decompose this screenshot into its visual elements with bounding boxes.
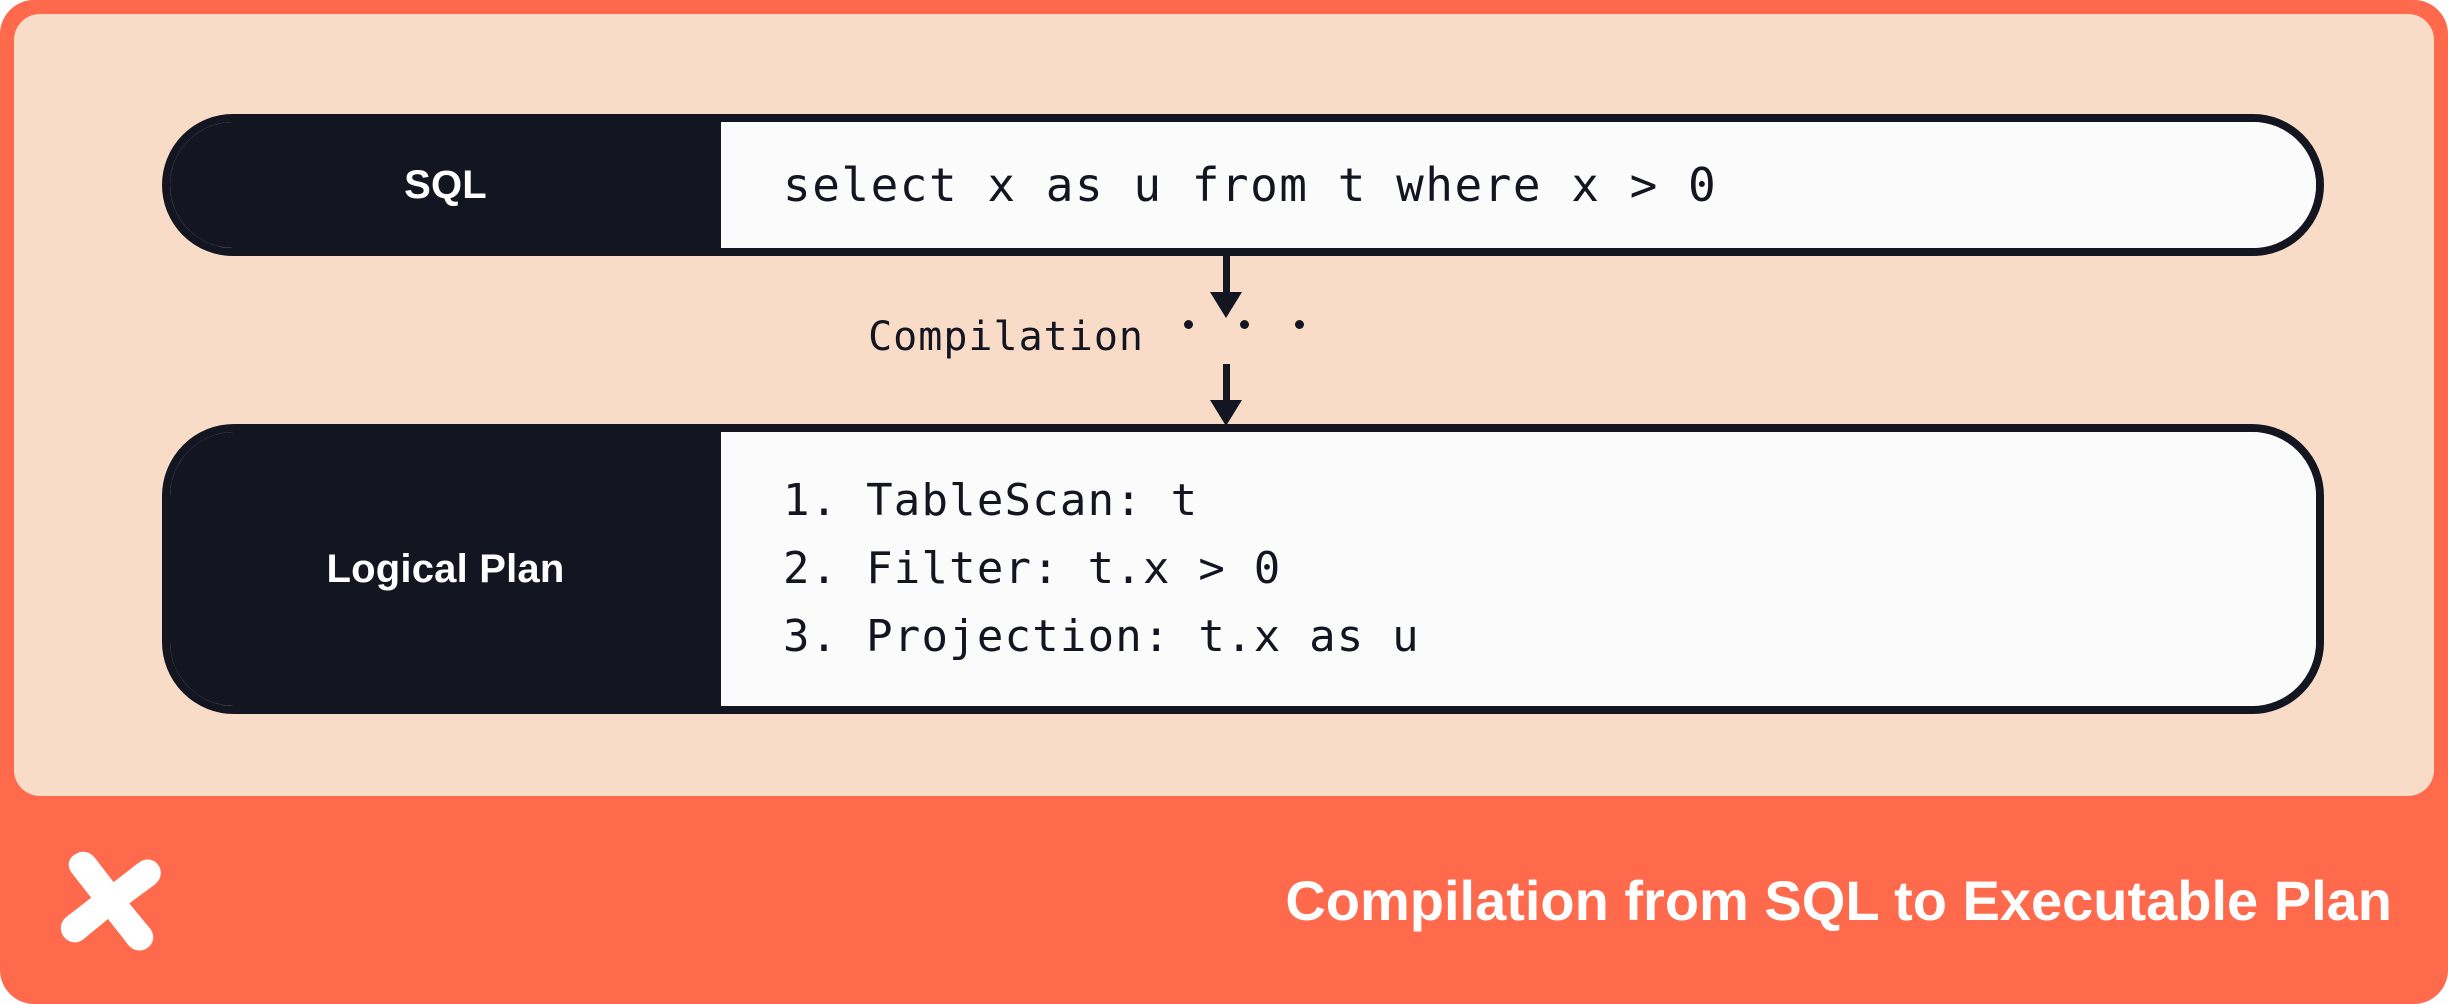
arrow-shaft (1223, 364, 1230, 404)
arrow-head (1210, 292, 1242, 318)
ellipsis-dot (1295, 320, 1304, 329)
sql-card-body: select x as u from t where x > 0 (721, 122, 2316, 248)
sql-card-label: SQL (170, 122, 721, 248)
logical-plan-card-label: Logical Plan (170, 432, 721, 706)
sql-card: SQL select x as u from t where x > 0 (162, 114, 2324, 256)
plan-step: 3. Projection: t.x as u (783, 603, 2316, 671)
outer-frame: SQL select x as u from t where x > 0 Com… (0, 0, 2448, 1004)
arrow-shaft (1223, 256, 1230, 296)
arrow-down-icon (1210, 256, 1242, 318)
star-x-logo-icon (52, 844, 164, 956)
diagram-panel: SQL select x as u from t where x > 0 Com… (14, 14, 2434, 796)
ellipsis-dot (1184, 320, 1193, 329)
logical-plan-card: Logical Plan 1. TableScan: t 2. Filter: … (162, 424, 2324, 714)
footer-title: Compilation from SQL to Executable Plan (1285, 868, 2392, 933)
arrow-head (1210, 400, 1242, 426)
compilation-label: Compilation (814, 314, 1144, 360)
plan-step: 2. Filter: t.x > 0 (783, 535, 2316, 603)
logical-plan-card-body: 1. TableScan: t 2. Filter: t.x > 0 3. Pr… (721, 432, 2316, 706)
sql-query-text: select x as u from t where x > 0 (783, 158, 2316, 212)
ellipsis-dots (1184, 320, 1304, 329)
compilation-connector: Compilation (14, 256, 2448, 424)
plan-step: 1. TableScan: t (783, 467, 2316, 535)
ellipsis-dot (1240, 320, 1249, 329)
footer-bar: Compilation from SQL to Executable Plan (0, 796, 2448, 1004)
arrow-down-icon (1210, 364, 1242, 426)
